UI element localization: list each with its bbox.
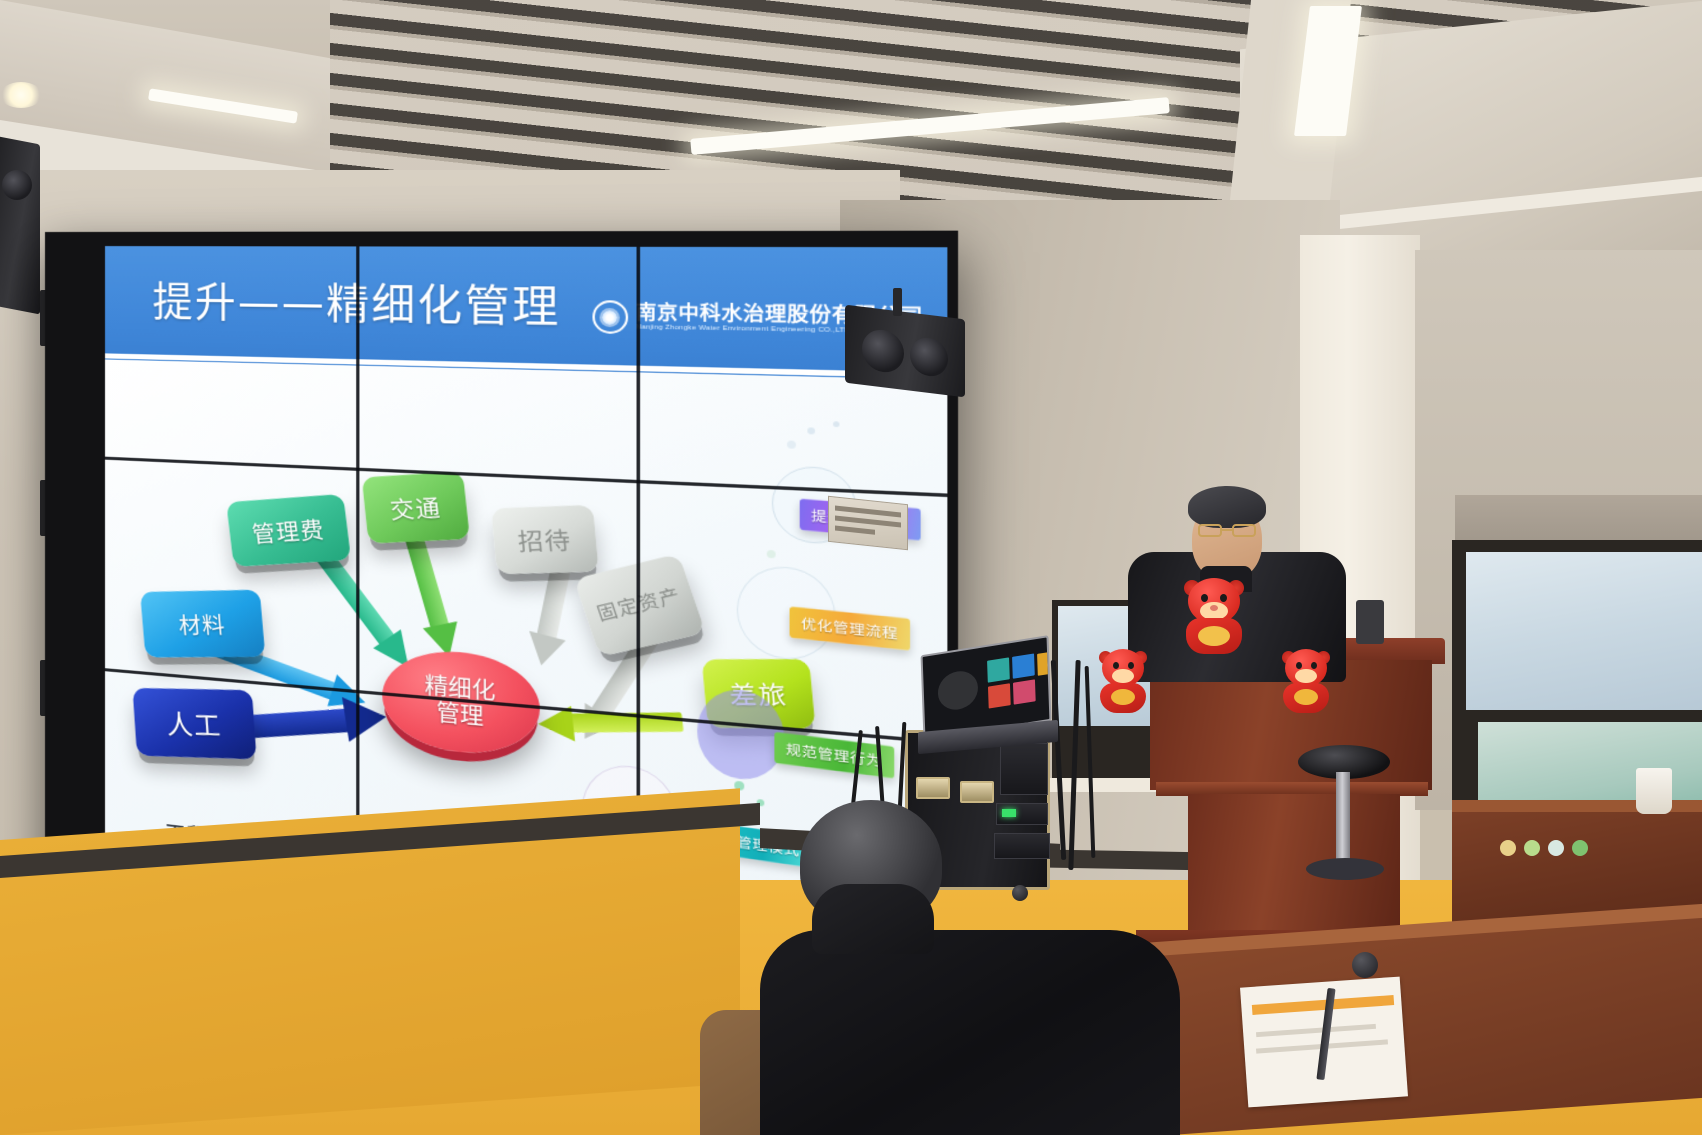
credenza-badge-1	[1500, 840, 1516, 856]
tiger-nose	[1210, 605, 1218, 611]
stool-pole	[1336, 772, 1350, 868]
dot-1b	[807, 427, 815, 434]
tile-5[interactable]	[1013, 679, 1036, 704]
credenza-badge-3	[1548, 840, 1564, 856]
presenter-glasses-bridge	[1222, 529, 1232, 531]
panel-slot-3	[835, 526, 875, 535]
cube-material: 材料	[140, 590, 265, 658]
tile-3[interactable]	[1037, 652, 1050, 676]
rack-caster-right	[1012, 885, 1028, 901]
rack-unit-top	[1000, 743, 1048, 795]
cube-material-label: 材料	[177, 607, 227, 641]
rack-handle-left[interactable]	[916, 777, 950, 799]
dot-1a	[787, 440, 796, 448]
tiger-eye-right	[1220, 594, 1227, 602]
wall-speaker-left	[0, 136, 40, 315]
credenza-badge-4	[1572, 840, 1588, 856]
tiger-left-muzzle	[1112, 669, 1134, 683]
tiger-left-eye-right	[1128, 662, 1134, 669]
photo-scene: 提升——精细化管理 南京中科水治理股份有限公司 Nanjing Zhongke …	[0, 0, 1702, 1135]
dot-2a	[767, 550, 776, 559]
flower-circle-logo-icon	[592, 300, 628, 334]
cube-transport-label: 交通	[388, 489, 442, 526]
cube-labor: 人工	[132, 688, 256, 759]
tile-1[interactable]	[987, 657, 1010, 682]
tiger-right-muzzle	[1295, 669, 1317, 683]
center-node-line2: 管理	[436, 700, 483, 730]
dot-1c	[833, 421, 839, 427]
wall-control-panel[interactable]	[828, 496, 908, 550]
chip-optimize-process-label: 优化管理流程	[801, 616, 898, 643]
cube-transport: 交通	[362, 472, 470, 544]
credenza-badge-2	[1524, 840, 1540, 856]
tile-4[interactable]	[988, 683, 1011, 708]
cube-management-fee-label: 管理费	[250, 511, 326, 549]
paper-cup[interactable]	[1636, 768, 1672, 814]
tiger-eye-left	[1201, 594, 1208, 602]
rack-unit-bottom	[994, 833, 1050, 859]
stool-base	[1306, 858, 1384, 880]
tiger-belly-badge	[1198, 626, 1230, 646]
wall-speaker-left-driver	[2, 170, 32, 200]
window-right-glass-upper	[1466, 552, 1702, 710]
tiger-right-eye-right	[1311, 662, 1317, 669]
presenter-glasses-right	[1232, 524, 1256, 537]
downlight-1	[0, 82, 42, 108]
tiger-left-eye-left	[1113, 662, 1119, 669]
cube-management-fee: 管理费	[226, 494, 351, 567]
rack-led-indicator	[1002, 809, 1016, 817]
tiger-right-belly	[1294, 689, 1318, 705]
red-tiger-plush-right	[1280, 645, 1332, 715]
audience-shoulders	[812, 884, 934, 954]
chip-standardize-behavior-label: 规范管理行为	[786, 741, 883, 770]
rack-handle-right[interactable]	[960, 781, 994, 803]
audience-coat	[760, 930, 1180, 1135]
tile-2[interactable]	[1012, 653, 1035, 678]
presenter-glasses-left	[1198, 524, 1222, 537]
tiger-left-belly	[1111, 689, 1135, 705]
presenter-hair	[1188, 486, 1266, 528]
speaker-mount-bracket	[893, 288, 902, 316]
panel-seam-v1	[356, 246, 359, 910]
tiger-right-eye-left	[1296, 662, 1302, 669]
cube-labor-label: 人工	[165, 704, 222, 744]
cube-entertainment-label: 招待	[516, 521, 572, 558]
table-microphone-base[interactable]	[1352, 952, 1378, 978]
red-tiger-plush-left	[1097, 645, 1149, 715]
tile-avatar	[937, 668, 978, 712]
red-tiger-plush-center	[1182, 572, 1246, 656]
cube-entertainment: 招待	[491, 505, 599, 574]
cube-fixed-assets: 固定资产	[574, 553, 706, 656]
podium-microphone[interactable]	[1356, 600, 1384, 644]
